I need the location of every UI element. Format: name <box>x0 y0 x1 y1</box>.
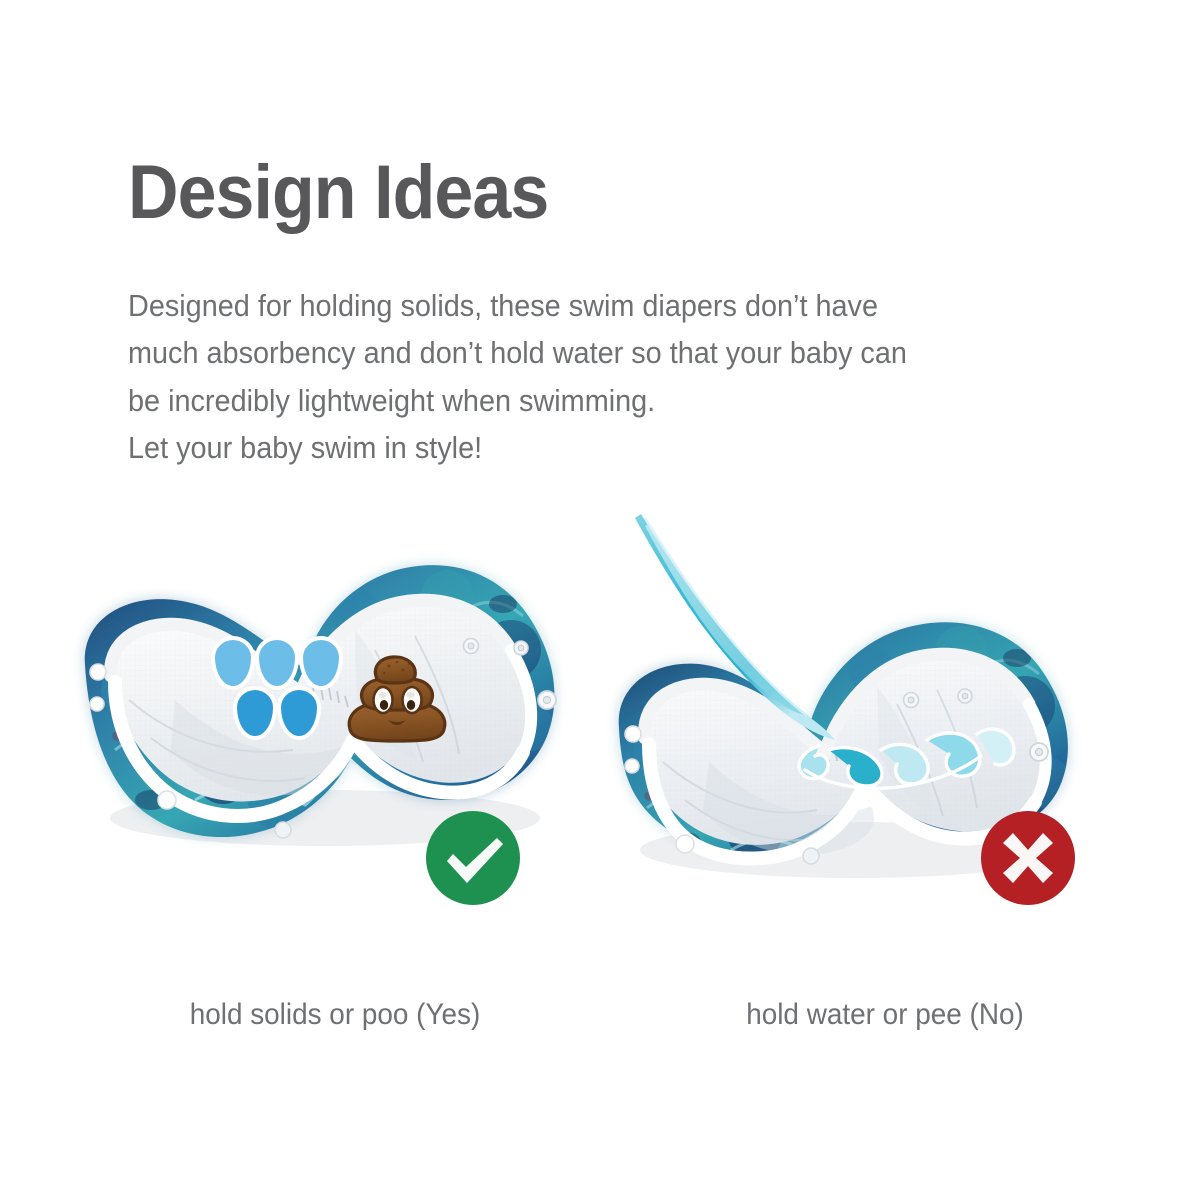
panel-hold-water: hold water or pee (No) <box>605 500 1165 1100</box>
water-droplet <box>237 690 273 736</box>
water-droplet <box>215 640 251 686</box>
cross-mark-glyph <box>981 811 1075 905</box>
page-description: Designed for holding solids, these swim … <box>128 282 1058 472</box>
swim-diaper-photo-right <box>605 500 1165 940</box>
water-droplet <box>303 640 339 686</box>
panel-hold-solids: hold solids or poo (Yes) <box>55 500 615 1100</box>
panel-caption: hold solids or poo (Yes) <box>75 998 596 1032</box>
water-droplet <box>281 690 317 736</box>
product-stage-right <box>605 500 1165 940</box>
water-droplets-icon <box>213 638 343 743</box>
check-mark-glyph <box>426 811 520 905</box>
cross-circle-icon <box>981 811 1075 905</box>
description-line: Designed for holding solids, these swim … <box>128 282 1058 329</box>
description-line: Let your baby swim in style! <box>128 424 1058 471</box>
product-stage-left <box>55 500 615 940</box>
poop-emoji-icon <box>339 640 455 744</box>
page-title: Design Ideas <box>128 155 548 231</box>
check-circle-icon <box>426 811 520 905</box>
panel-caption: hold water or pee (No) <box>625 998 1146 1032</box>
comparison-panels: hold solids or poo (Yes) <box>0 500 1200 1100</box>
description-line: much absorbency and don’t hold water so … <box>128 329 1058 376</box>
water-droplet <box>259 640 295 686</box>
infographic-root: Design Ideas Designed for holding solids… <box>0 0 1200 1200</box>
description-line: be incredibly lightweight when swimming. <box>128 377 1058 424</box>
